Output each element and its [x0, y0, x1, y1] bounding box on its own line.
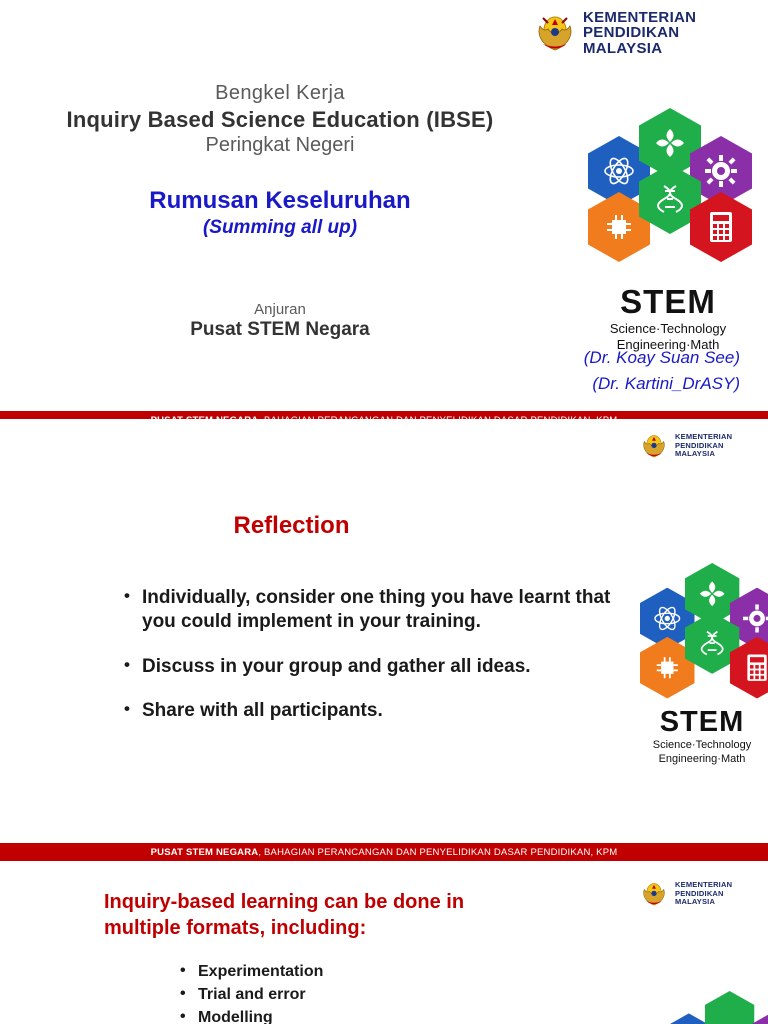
list-item: Experimentation — [180, 960, 323, 983]
slide3-heading: Inquiry-based learning can be done in mu… — [104, 889, 524, 942]
slide-2: KEMENTERIAN PENDIDIKAN MALAYSIA Reflecti… — [0, 419, 768, 869]
workshop-title: Inquiry Based Science Education (IBSE) — [0, 107, 560, 133]
ministry-logo: KEMENTERIAN PENDIDIKAN MALAYSIA — [534, 10, 696, 56]
ministry-wordmark-small-3: KEMENTERIAN PENDIDIKAN MALAYSIA — [675, 881, 732, 906]
list-item: Modelling — [180, 1006, 323, 1024]
list-item: Share with all participants. — [124, 699, 614, 723]
stem-logo-slide3-partial — [664, 991, 768, 1024]
author-1: (Dr. Koay Suan See) — [584, 345, 740, 371]
footer-rest: , BAHAGIAN PERANCANGAN DAN PENYELIDIKAN … — [258, 847, 617, 858]
slide-deck-page: KEMENTERIAN PENDIDIKAN MALAYSIA Bengkel … — [0, 0, 768, 1024]
hex-leaf-icon — [705, 991, 755, 1024]
main-heading-en: (Summing all up) — [0, 217, 560, 239]
reflection-title: Reflection — [0, 512, 583, 540]
ministry-wordmark-small-2: KEMENTERIAN PENDIDIKAN MALAYSIA — [675, 433, 732, 458]
organizer-label: Anjuran — [0, 301, 560, 318]
malaysia-crest-icon — [534, 10, 576, 56]
main-heading-my: Rumusan Keseluruhan — [0, 187, 560, 215]
slide-3: KEMENTERIAN PENDIDIKAN MALAYSIA Inquiry-… — [0, 869, 768, 1024]
slide2-footer-bar: PUSAT STEM NEGARA, BAHAGIAN PERANCANGAN … — [0, 843, 768, 861]
malaysia-crest-icon-small — [640, 879, 668, 909]
malaysia-crest-icon-small — [640, 431, 668, 461]
list-item: Trial and error — [180, 983, 323, 1006]
ministry-logo-small-2: KEMENTERIAN PENDIDIKAN MALAYSIA — [640, 431, 732, 461]
author-2: (Dr. Kartini_DrASY) — [584, 371, 740, 397]
ministry-logo-small-3: KEMENTERIAN PENDIDIKAN MALAYSIA — [640, 879, 732, 909]
stem-logo-slide2: STEM Science·Technology Engineering·Math — [640, 563, 768, 767]
stem-subtitle-1: Science·Technology — [640, 739, 764, 753]
list-item: Individually, consider one thing you hav… — [124, 586, 614, 635]
author-credits: (Dr. Koay Suan See) (Dr. Kartini_DrASY) — [584, 345, 740, 396]
stem-subtitle-2: Engineering·Math — [640, 753, 764, 767]
slide3-bullet-list: Experimentation Trial and error Modellin… — [140, 960, 323, 1024]
slide1-title-block: Bengkel Kerja Inquiry Based Science Educ… — [0, 82, 560, 341]
stem-wordmark: STEM — [588, 283, 748, 321]
stem-logo-slide1: STEM Science·Technology Engineering·Math — [588, 108, 748, 354]
workshop-level: Peringkat Negeri — [0, 134, 560, 157]
footer-bold: PUSAT STEM NEGARA — [151, 847, 259, 858]
ministry-wordmark: KEMENTERIAN PENDIDIKAN MALAYSIA — [583, 10, 696, 56]
stem-subtitle-1: Science·Technology — [588, 321, 748, 337]
reflection-bullet-list: Individually, consider one thing you hav… — [84, 586, 614, 743]
list-item: Discuss in your group and gather all ide… — [124, 655, 614, 679]
workshop-kicker: Bengkel Kerja — [0, 82, 560, 105]
slide-1: KEMENTERIAN PENDIDIKAN MALAYSIA Bengkel … — [0, 0, 768, 419]
organizer-name: Pusat STEM Negara — [0, 319, 560, 341]
stem-wordmark: STEM — [640, 706, 764, 739]
